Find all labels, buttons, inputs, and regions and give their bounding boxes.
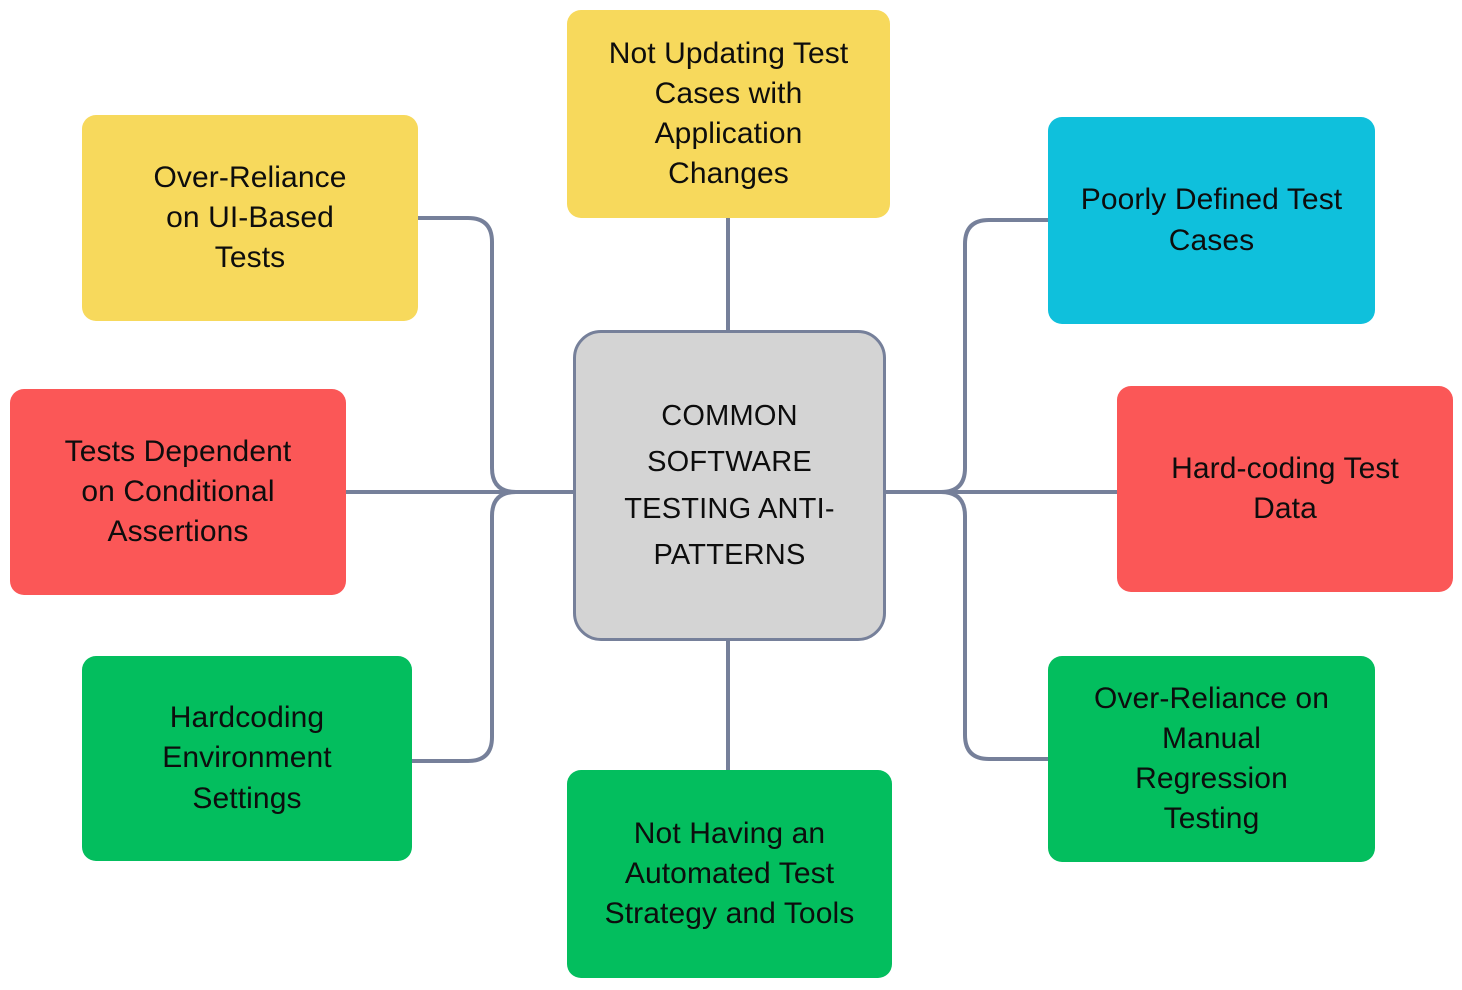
node-over-reliance-manual-regression-testing[interactable]: Over-Reliance on Manual Regression Testi… [1048,656,1375,862]
center-node[interactable]: COMMON SOFTWARE TESTING ANTI- PATTERNS [573,330,886,641]
node-poorly-defined-test-cases[interactable]: Poorly Defined Test Cases [1048,117,1375,324]
connector-top-left [418,218,516,492]
node-not-having-automated-test-strategy[interactable]: Not Having an Automated Test Strategy an… [567,770,892,978]
node-hard-coding-test-data[interactable]: Hard-coding Test Data [1117,386,1453,592]
connector-top-right [941,220,1048,492]
node-hardcoding-environment-settings[interactable]: Hardcoding Environment Settings [82,656,412,861]
node-over-reliance-ui-based-tests[interactable]: Over-Reliance on UI-Based Tests [82,115,418,321]
mindmap-canvas: COMMON SOFTWARE TESTING ANTI- PATTERNS O… [0,0,1462,990]
connector-bottom-left [412,492,516,761]
connector-bottom-right [941,492,1048,759]
node-tests-dependent-conditional-assertions[interactable]: Tests Dependent on Conditional Assertion… [10,389,346,595]
node-not-updating-test-cases[interactable]: Not Updating Test Cases with Application… [567,10,890,218]
